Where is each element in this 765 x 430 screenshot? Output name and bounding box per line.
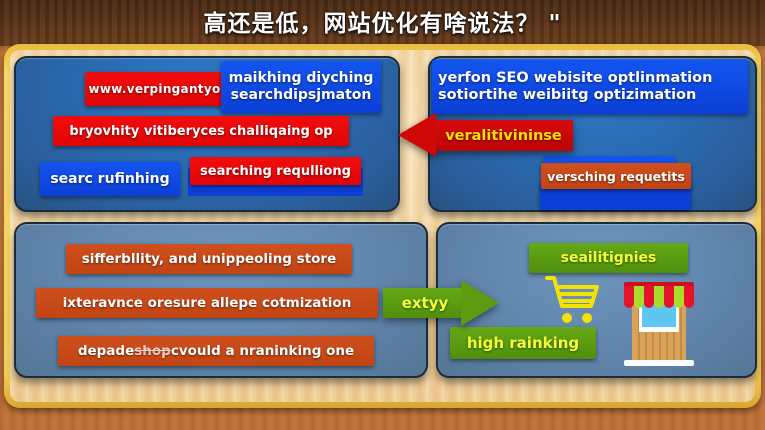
issue-3-post: cvould a nraninking one	[171, 343, 354, 359]
issue-3-strikethrough: shop	[134, 343, 171, 359]
green-arrow-label: extyy	[383, 288, 467, 318]
red-arrow-head	[398, 113, 436, 157]
matching-line-2: searchdipsjmaton	[231, 87, 372, 104]
seo-headline-line-2: sotiortihe weibiitg optizimation	[438, 87, 696, 104]
slide-canvas: 高还是低，网站优化有啥说法？ " www.verpingantyo maikhi…	[0, 0, 765, 430]
searching-result-chip[interactable]: searching requlliong	[190, 157, 361, 185]
green-right-arrow[interactable]: extyy	[383, 280, 499, 326]
www-badge[interactable]: www.verpingantyo	[85, 72, 224, 106]
red-left-arrow[interactable]: veralitivininse	[398, 113, 573, 158]
seo-headline-line-1: yerfon SEO webisite optlinmation	[438, 70, 712, 87]
issue-chip-2[interactable]: ixteravnce oresure allepe cotmization	[36, 288, 378, 318]
issue-chip-3[interactable]: depade shop cvould a nraninking one	[58, 336, 374, 366]
storefront-icon	[610, 272, 708, 372]
matching-line-1: maikhing diyching	[229, 70, 374, 87]
seo-headline-chip[interactable]: yerfon SEO webisite optlinmation sotiort…	[432, 60, 748, 114]
versching-chip[interactable]: versching requetits	[541, 163, 691, 189]
issue-chip-1[interactable]: sifferbllity, and unippeoling store	[66, 244, 352, 274]
issue-3-pre: depade	[78, 343, 134, 359]
page-title: 高还是低，网站优化有啥说法？ "	[0, 4, 765, 38]
shop-sign-chip[interactable]: seailitignies	[529, 243, 688, 273]
shopping-cart-icon	[542, 270, 604, 332]
priority-bar-chip[interactable]: bryovhity vitiberyces chalIiqaing op	[53, 116, 349, 146]
red-arrow-label: veralitivininse	[434, 120, 573, 151]
matching-dual-chip[interactable]: maikhing diyching searchdipsjmaton	[221, 61, 381, 113]
search-refine-chip[interactable]: searc rufinhing	[40, 162, 180, 196]
